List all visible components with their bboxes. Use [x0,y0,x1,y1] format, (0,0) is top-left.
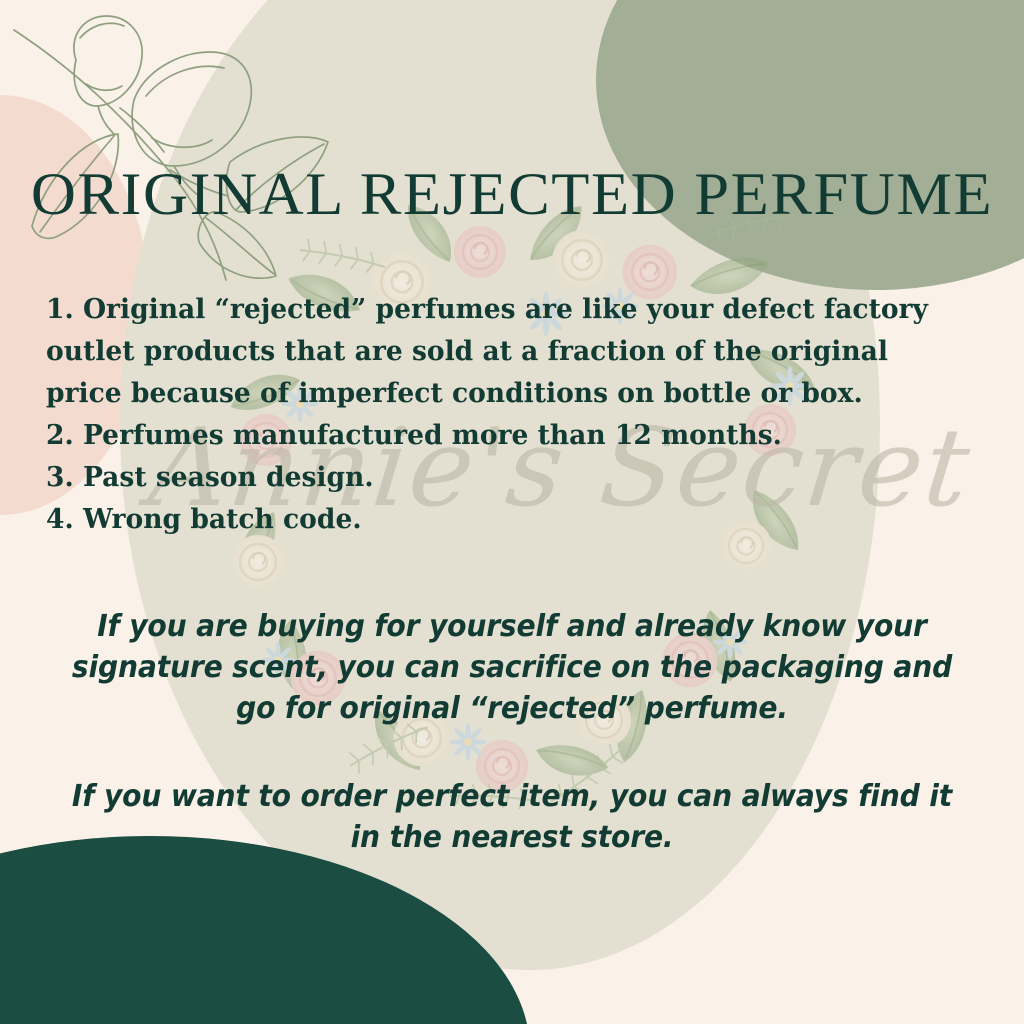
emphasis-paragraph-1: If you are buying for yourself and alrea… [65,606,960,729]
list-item: 3. Past season design. [46,456,951,498]
list-item: 2. Perfumes manufactured more than 12 mo… [46,414,951,456]
list-item: 4. Wrong batch code. [46,498,951,540]
page-title: ORIGINAL REJECTED PERFUME [0,164,1024,224]
perfume-info-poster: Annie's Secret ORIGINAL REJECTED PERFUME… [0,0,1024,1024]
list-item: outlet products that are sold at a fract… [46,330,951,372]
list-item: price because of imperfect conditions on… [46,372,951,414]
reasons-list: 1. Original “rejected” perfumes are like… [46,288,951,540]
emphasis-paragraph-2: If you want to order perfect item, you c… [65,776,960,858]
poster-content: ORIGINAL REJECTED PERFUME 1. Original “r… [0,0,1024,1024]
list-item: 1. Original “rejected” perfumes are like… [46,288,951,330]
